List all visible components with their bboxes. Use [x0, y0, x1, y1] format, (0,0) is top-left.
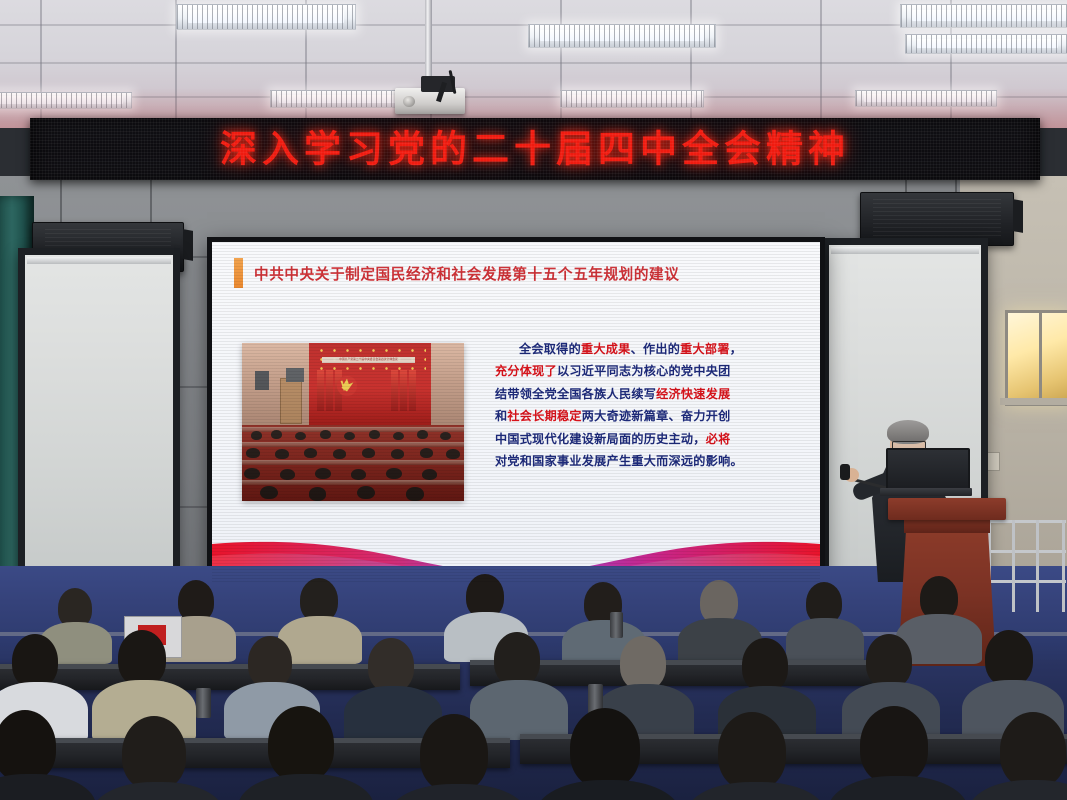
audience-head [718, 712, 786, 790]
ceiling-projector [395, 88, 465, 114]
body-phrase: 、作出的 [631, 342, 681, 356]
microphone-icon [840, 464, 850, 480]
audience-head [122, 716, 186, 790]
slide-body-text: 全会取得的重大成果、作出的重大部署，充分体现了以习近平同志为核心的党中央团结带领… [495, 338, 798, 472]
ceiling-lamp [905, 34, 1067, 54]
slide-title-row: 中共中央关于制定国民经济和社会发展第十五个五年规划的建议 [234, 258, 802, 288]
audience-head [860, 706, 928, 784]
audience-head [1000, 712, 1066, 788]
projector-lens-icon [403, 96, 415, 107]
audience-head [985, 630, 1033, 686]
audience-head [866, 634, 912, 688]
body-phrase: 和 [495, 409, 507, 423]
audience-head [494, 632, 540, 686]
ceiling-lamp [528, 24, 716, 48]
body-phrase: 中国式现代化建设新局面的历史主动， [495, 432, 706, 446]
ceiling [0, 0, 1067, 128]
audience-head [0, 710, 56, 782]
audience-head [420, 714, 488, 792]
body-phrase: 结带领全党全国各族人民续写 [495, 387, 656, 401]
body-phrase: 以习近平同志为核心的党中央团 [557, 364, 731, 378]
slide-body-line: 充分体现了以习近平同志为核心的党中央团 [495, 360, 798, 382]
highlighted-phrase: 重大成果 [581, 342, 631, 356]
slide-body-line: 结带领全党全国各族人民续写经济快速发展 [495, 383, 798, 405]
body-phrase: ， [730, 342, 742, 356]
slide-body-line: 中国式现代化建设新局面的历史主动，必将 [495, 428, 798, 450]
slide-title: 中共中央关于制定国民经济和社会发展第十五个五年规划的建议 [254, 263, 679, 284]
audience-head [248, 636, 292, 688]
highlighted-phrase: 经济快速发展 [656, 387, 730, 401]
slide-accent-bar [234, 258, 243, 288]
audience-head [12, 634, 58, 688]
audience-head [570, 708, 640, 788]
highlighted-phrase: 充分体现了 [495, 364, 557, 378]
ceiling-lamp [176, 4, 356, 30]
led-banner: 深入学习党的二十届四中全会精神 [30, 118, 1040, 180]
slide-body-line: 和社会长期稳定两大奇迹新篇章、奋力开创 [495, 405, 798, 427]
presenter-laptop [880, 448, 970, 500]
left-projection-screen [18, 248, 180, 584]
window-sill [1000, 398, 1067, 405]
slide-body-line: 全会取得的重大成果、作出的重大部署， [495, 338, 798, 360]
main-led-display: 中共中央关于制定国民经济和社会发展第十五个五年规划的建议 [207, 237, 825, 587]
conference-hall-photo: 深入学习党的二十届四中全会精神 中共中央关于制定国民经济和社会发展第十五个五年规… [0, 0, 1067, 800]
audience-head [368, 638, 414, 692]
body-phrase: 全会取得的 [519, 342, 581, 356]
highlighted-phrase: 重大部署 [680, 342, 730, 356]
audience-head [268, 706, 334, 782]
body-phrase: 两大奇迹新篇章、奋力开创 [582, 409, 731, 423]
window [1005, 310, 1067, 406]
audience-head [742, 638, 788, 692]
slide-photo: 中国共产党第二十届中央委员会第四次全体会议 [242, 343, 464, 501]
highlighted-phrase: 必将 [706, 432, 731, 446]
body-phrase: 对党和国家事业发展产生重大而深远的影响。 [495, 454, 743, 468]
slide-body-line: 对党和国家事业发展产生重大而深远的影响。 [495, 450, 798, 472]
ceiling-lamp [900, 4, 1067, 28]
presentation-slide: 中共中央关于制定国民经济和社会发展第十五个五年规划的建议 [212, 242, 820, 582]
audience-head [620, 636, 666, 690]
audience [0, 560, 1067, 800]
highlighted-phrase: 社会长期稳定 [507, 409, 581, 423]
audience-head [118, 630, 166, 686]
